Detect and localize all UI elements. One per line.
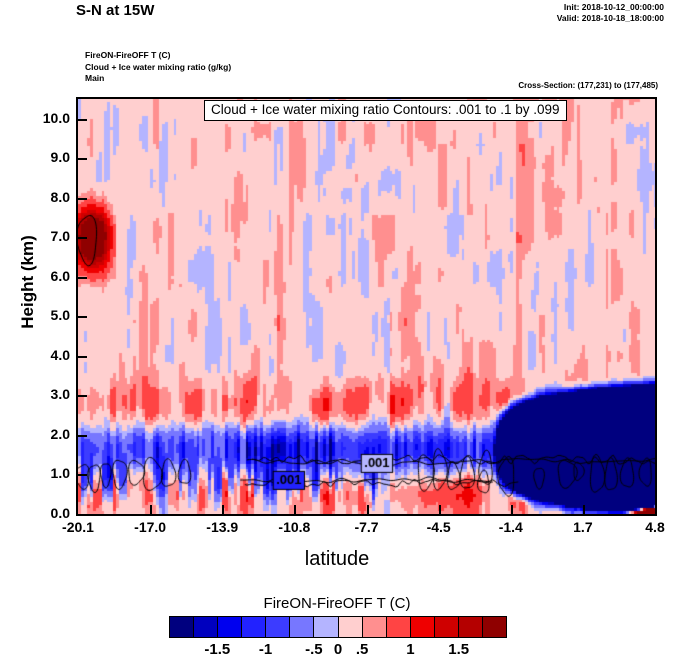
field-description-block: FireON-FireOFF T (C) Cloud + Ice water m… bbox=[85, 50, 231, 85]
colorbar-cell-7 bbox=[339, 617, 363, 637]
x-tick-mark bbox=[511, 505, 513, 516]
y-tick-mark bbox=[78, 158, 87, 160]
y-tick-mark bbox=[78, 198, 87, 200]
x-tick-label: -17.0 bbox=[134, 519, 166, 535]
colorbar-cell-5 bbox=[290, 617, 314, 637]
x-tick-mark bbox=[367, 505, 369, 516]
x-tick-label: -4.5 bbox=[427, 519, 451, 535]
colorbar-tick-labels: -1.5-1-.50.511.5 bbox=[169, 641, 507, 663]
x-axis-tick-marks bbox=[76, 505, 657, 516]
x-tick-mark bbox=[222, 505, 224, 516]
x-tick-label: -1.4 bbox=[499, 519, 523, 535]
variable-line: FireON-FireOFF T (C) bbox=[85, 50, 231, 62]
colorbar-title: FireON-FireOFF T (C) bbox=[0, 595, 674, 612]
colorbar-cell-11 bbox=[435, 617, 459, 637]
contour-title-banner: Cloud + Ice water mixing ratio Contours:… bbox=[204, 100, 567, 121]
y-tick-mark bbox=[78, 316, 87, 318]
colorbar-cell-10 bbox=[411, 617, 435, 637]
x-tick-mark bbox=[150, 505, 152, 516]
cross-section-plot bbox=[76, 97, 657, 516]
init-valid-block: Init: 2018-10-12_00:00:00 Valid: 2018-10… bbox=[557, 2, 664, 24]
colorbar-cell-13 bbox=[483, 617, 506, 637]
y-tick-mark bbox=[78, 277, 87, 279]
page-title: S-N at 15W bbox=[76, 2, 154, 19]
y-tick-label: 1.0 bbox=[24, 465, 70, 481]
x-tick-label: -13.9 bbox=[206, 519, 238, 535]
init-time: Init: 2018-10-12_00:00:00 bbox=[557, 2, 664, 13]
y-tick-label: 2.0 bbox=[24, 426, 70, 442]
colorbar-cell-1 bbox=[194, 617, 218, 637]
colorbar-cell-3 bbox=[242, 617, 266, 637]
x-tick-label: -10.8 bbox=[278, 519, 310, 535]
cross-section-label: Cross-Section: (177,231) to (177,485) bbox=[518, 81, 658, 90]
colorbar-tick-label: 0 bbox=[334, 641, 342, 658]
colorbar-cell-0 bbox=[170, 617, 194, 637]
x-tick-label: -20.1 bbox=[62, 519, 94, 535]
y-tick-mark bbox=[78, 474, 87, 476]
y-tick-mark bbox=[78, 395, 87, 397]
colorbar-tick-label: -1 bbox=[259, 641, 272, 658]
colorbar-cell-12 bbox=[459, 617, 483, 637]
x-tick-label: 1.7 bbox=[573, 519, 592, 535]
x-axis-title: latitude bbox=[0, 548, 674, 571]
valid-time: Valid: 2018-10-18_18:00:00 bbox=[557, 13, 664, 24]
y-tick-mark bbox=[78, 119, 87, 121]
y-axis-title: Height (km) bbox=[18, 202, 38, 362]
x-tick-mark bbox=[439, 505, 441, 516]
y-tick-label: 3.0 bbox=[24, 386, 70, 402]
colorbar-cell-8 bbox=[363, 617, 387, 637]
y-axis-tick-marks bbox=[78, 97, 87, 516]
colorbar-tick-label: -.5 bbox=[305, 641, 323, 658]
y-tick-label: 9.0 bbox=[24, 149, 70, 165]
colorbar-cell-6 bbox=[314, 617, 338, 637]
y-tick-label: 10.0 bbox=[24, 110, 70, 126]
y-tick-mark bbox=[78, 435, 87, 437]
colorbar-tick-label: 1 bbox=[406, 641, 414, 658]
field-line: Cloud + Ice water mixing ratio (g/kg) bbox=[85, 62, 231, 74]
x-axis-tick-labels: -20.1-17.0-13.9-10.8-7.7-4.5-1.41.74.8 bbox=[76, 519, 657, 541]
colorbar-cell-4 bbox=[266, 617, 290, 637]
y-tick-mark bbox=[78, 356, 87, 358]
colorbar-tick-label: 1.5 bbox=[448, 641, 469, 658]
colorbar-tick-label: .5 bbox=[356, 641, 369, 658]
domain-line: Main bbox=[85, 73, 231, 85]
temperature-anomaly-field bbox=[78, 99, 655, 514]
x-tick-mark bbox=[294, 505, 296, 516]
colorbar-tick-label: -1.5 bbox=[204, 641, 230, 658]
x-tick-label: 4.8 bbox=[645, 519, 664, 535]
x-tick-mark bbox=[583, 505, 585, 516]
colorbar-cell-2 bbox=[218, 617, 242, 637]
x-tick-label: -7.7 bbox=[354, 519, 378, 535]
colorbar-cell-9 bbox=[387, 617, 411, 637]
colorbar bbox=[169, 616, 507, 638]
y-tick-mark bbox=[78, 237, 87, 239]
